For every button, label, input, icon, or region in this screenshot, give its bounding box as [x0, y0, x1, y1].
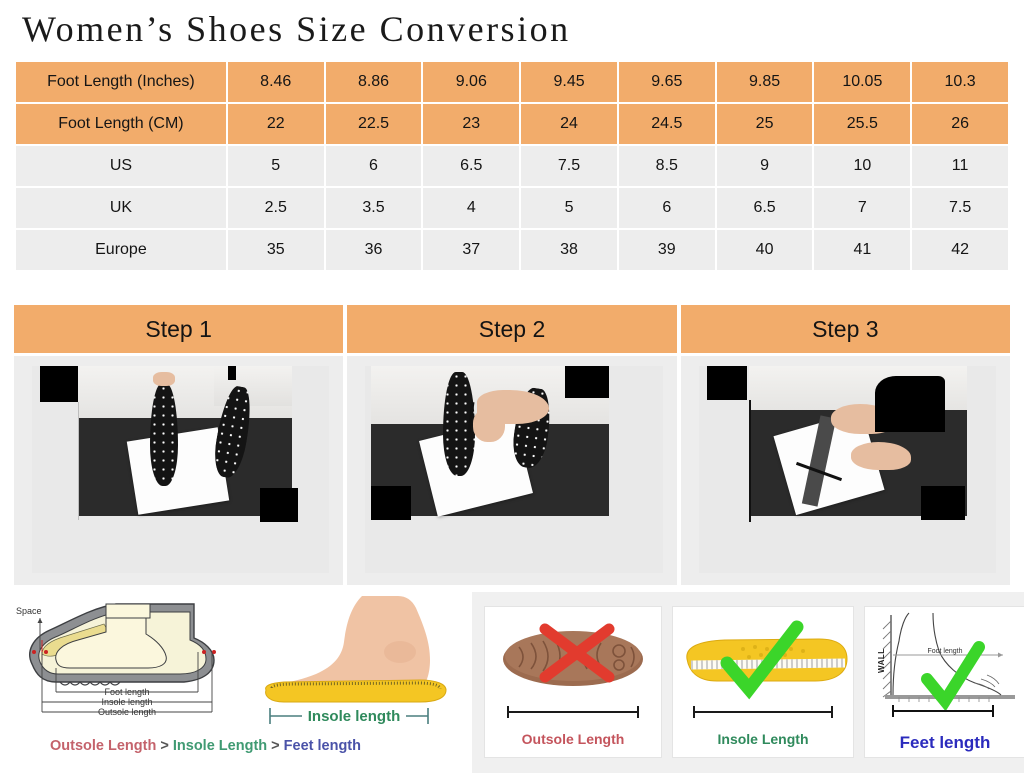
steps-section: Step 1 Step 2 [14, 305, 1010, 585]
table-cell: 8.46 [228, 62, 324, 102]
outsole-measure-line [507, 711, 639, 713]
table-row: Foot Length (Inches)8.468.869.069.459.65… [16, 62, 1008, 102]
insole-measure-line [693, 711, 833, 713]
table-cell: 39 [619, 230, 715, 270]
table-cell: 11 [912, 146, 1008, 186]
outsole-illustration [485, 607, 661, 727]
table-cell: 35 [228, 230, 324, 270]
size-conversion-table: Foot Length (Inches)8.468.869.069.459.65… [14, 60, 1010, 272]
feet-card-foot-length-label: Foot length [927, 648, 962, 655]
table-cell: 42 [912, 230, 1008, 270]
insole-length-card: Insole Length [672, 606, 854, 758]
outsole-length-card: Outsole Length [484, 606, 662, 758]
table-cell: 40 [717, 230, 813, 270]
cross-section-outsole-length-label: Outsole length [98, 707, 156, 717]
table-cell: 25 [717, 104, 813, 144]
step-2-header: Step 2 [347, 305, 676, 353]
table-row: Europe3536373839404142 [16, 230, 1008, 270]
step-1-body [14, 356, 343, 585]
outsole-length-caption: Outsole Length [485, 731, 661, 747]
foot-on-insole-diagram: Insole length [250, 594, 472, 734]
table-cell: 41 [814, 230, 910, 270]
wall-label: WALL [877, 648, 886, 673]
table-cell: 26 [912, 104, 1008, 144]
table-row: US566.57.58.591011 [16, 146, 1008, 186]
insole-length-measure-label: Insole length [308, 708, 401, 725]
table-cell: 25.5 [814, 104, 910, 144]
table-row: UK2.53.54566.577.5 [16, 188, 1008, 228]
table-cell: 6 [619, 188, 715, 228]
table-cell: 37 [423, 230, 519, 270]
step-3-header: Step 3 [681, 305, 1010, 353]
table-cell: 9.85 [717, 62, 813, 102]
table-cell: 5 [521, 188, 617, 228]
table-cell: 6.5 [717, 188, 813, 228]
caption-sep-2: > [271, 738, 279, 754]
table-cell: 10.05 [814, 62, 910, 102]
cross-section-insole-length-label: Insole length [101, 697, 152, 707]
table-row-label: Foot Length (Inches) [16, 62, 226, 102]
step-1-header: Step 1 [14, 305, 343, 353]
table-row-label: Europe [16, 230, 226, 270]
caption-feet: Feet length [284, 738, 361, 754]
length-comparison-caption: Outsole Length > Insole Length > Feet le… [50, 738, 410, 754]
table-row-label: US [16, 146, 226, 186]
table-cell: 3.5 [326, 188, 422, 228]
table-cell: 4 [423, 188, 519, 228]
table-cell: 9.06 [423, 62, 519, 102]
table-row: Foot Length (CM)2222.5232424.52525.526 [16, 104, 1008, 144]
feet-length-caption: Feet length [865, 733, 1024, 753]
outsole-measure-end-right [637, 706, 639, 718]
shoe-cross-section-diagram: Foot length Insole length Outsole length… [8, 594, 248, 722]
table-cell: 9.45 [521, 62, 617, 102]
table-cell: 23 [423, 104, 519, 144]
table-cell: 24 [521, 104, 617, 144]
feet-length-illustration: Foot length [865, 607, 1024, 727]
table-cell: 10 [814, 146, 910, 186]
table-cell: 2.5 [228, 188, 324, 228]
table-cell: 24.5 [619, 104, 715, 144]
outsole-measure-end-left [507, 706, 509, 718]
table-cell: 22.5 [326, 104, 422, 144]
caption-insole: Insole Length [173, 738, 267, 754]
cross-section-foot-length-label: Foot length [104, 687, 149, 697]
insole-measure-end-right [831, 706, 833, 718]
table-cell: 36 [326, 230, 422, 270]
table-cell: 38 [521, 230, 617, 270]
step-panel-1: Step 1 [14, 305, 343, 585]
table-cell: 9.65 [619, 62, 715, 102]
step-1-photo [32, 366, 329, 573]
step-3-photo [699, 366, 996, 573]
caption-outsole: Outsole Length [50, 738, 156, 754]
step-2-body [347, 356, 676, 585]
caption-sep-1: > [160, 738, 168, 754]
table-cell: 5 [228, 146, 324, 186]
table-cell: 6 [326, 146, 422, 186]
step-2-photo [365, 366, 662, 573]
table-cell: 8.86 [326, 62, 422, 102]
feet-length-card: Foot length WALL Feet length [864, 606, 1024, 758]
table-row-label: UK [16, 188, 226, 228]
table-cell: 7.5 [521, 146, 617, 186]
insole-illustration [673, 607, 853, 727]
length-comparison-panel: Outsole Length [472, 592, 1024, 773]
table-cell: 7.5 [912, 188, 1008, 228]
table-cell: 8.5 [619, 146, 715, 186]
step-3-body [681, 356, 1010, 585]
table-cell: 6.5 [423, 146, 519, 186]
insole-length-caption: Insole Length [673, 731, 853, 747]
table-row-label: Foot Length (CM) [16, 104, 226, 144]
table-cell: 10.3 [912, 62, 1008, 102]
cross-section-space-label: Space [16, 606, 42, 616]
table-cell: 7 [814, 188, 910, 228]
insole-measure-end-left [693, 706, 695, 718]
table-cell: 9 [717, 146, 813, 186]
step-panel-2: Step 2 [347, 305, 676, 585]
table-cell: 22 [228, 104, 324, 144]
page-title: Women’s Shoes Size Conversion [22, 8, 1002, 56]
step-panel-3: Step 3 [681, 305, 1010, 585]
